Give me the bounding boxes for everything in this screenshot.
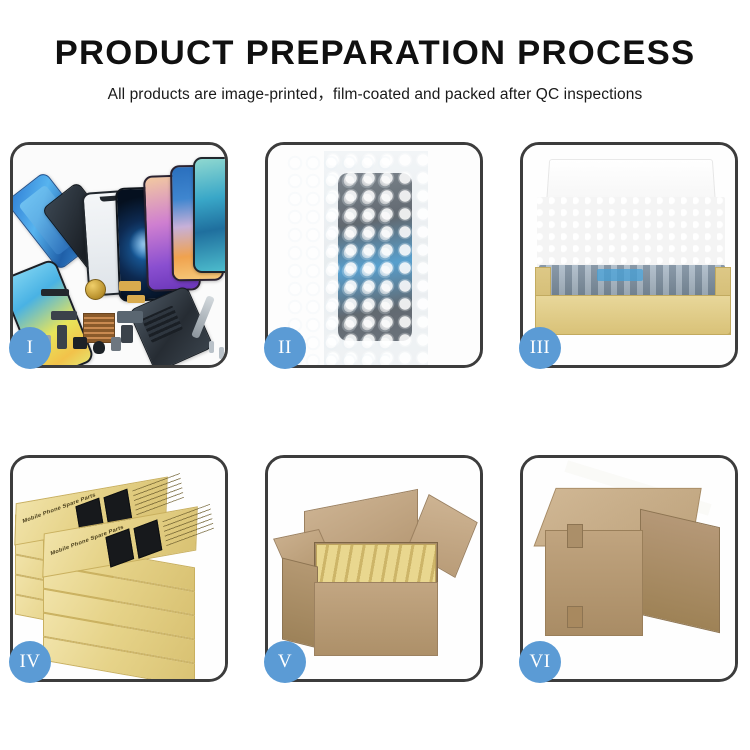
box-label-lines-front [162, 504, 214, 546]
step-badge-5: V [264, 641, 306, 683]
flex-cable-part-2 [127, 295, 145, 303]
step-image-2 [268, 145, 480, 365]
step-image-3 [523, 145, 735, 365]
packed-products-row [539, 265, 725, 299]
step-panel-3[interactable]: III [520, 142, 738, 368]
step-badge-1: I [9, 327, 51, 369]
carton-front-face [314, 582, 438, 656]
small-part-1 [73, 337, 87, 349]
flex-cable-part-6 [121, 325, 133, 343]
bubble-pattern-overlay [286, 154, 390, 365]
bubble-wrap-scene [268, 145, 480, 365]
step-panel-1[interactable]: I [10, 142, 228, 368]
step-panel-5[interactable]: V [265, 455, 483, 682]
step-panel-4[interactable]: Mobile Phone Spare Parts Mobile Phone Sp… [10, 455, 228, 682]
step-badge-2: II [264, 327, 306, 369]
steps-grid: I II [0, 0, 750, 750]
sealed-carton-front-face [545, 530, 643, 636]
step-badge-6: VI [519, 641, 561, 683]
screw-part-2 [219, 347, 224, 359]
flex-cable-part-1 [119, 281, 141, 291]
step-badge-4: IV [9, 641, 51, 683]
inner-box-scene [523, 145, 735, 365]
sealed-carton-scene [523, 458, 735, 679]
carton-edge-tab-bottom [567, 606, 583, 628]
small-part-3 [111, 337, 121, 351]
mailer-box-front [535, 295, 731, 335]
sealed-carton-right-face [640, 509, 720, 633]
box-label-screen-front-2 [134, 519, 163, 558]
step-image-1 [13, 145, 225, 365]
step-image-6 [523, 458, 735, 679]
flex-cable-part-4 [57, 325, 67, 349]
step-panel-2[interactable]: II [265, 142, 483, 368]
product-preparation-infographic: PRODUCT PREPARATION PROCESS All products… [0, 0, 750, 750]
foam-liner [537, 197, 725, 273]
flex-cable-part-3 [51, 311, 77, 320]
carton-left-face [282, 558, 318, 649]
flex-cable-part-5 [117, 311, 143, 323]
stacked-boxes-scene: Mobile Phone Spare Parts Mobile Phone Sp… [13, 458, 225, 679]
step-panel-6[interactable]: VI [520, 455, 738, 682]
box-stack: Mobile Phone Spare Parts Mobile Phone Sp… [13, 458, 225, 679]
step-image-5 [268, 458, 480, 679]
speaker-coil-part [85, 279, 106, 300]
step-badge-3: III [519, 327, 561, 369]
products-scene [13, 145, 225, 365]
carton-edge-tab-top [567, 524, 583, 548]
screw-part-1 [209, 341, 214, 353]
small-part-2 [93, 341, 105, 354]
box-label-screen-front-1 [105, 528, 134, 567]
step-image-4: Mobile Phone Spare Parts Mobile Phone Sp… [13, 458, 225, 679]
carton-filling-scene [268, 458, 480, 679]
earpiece-part [41, 289, 69, 296]
phone-screen-teal [193, 157, 225, 273]
